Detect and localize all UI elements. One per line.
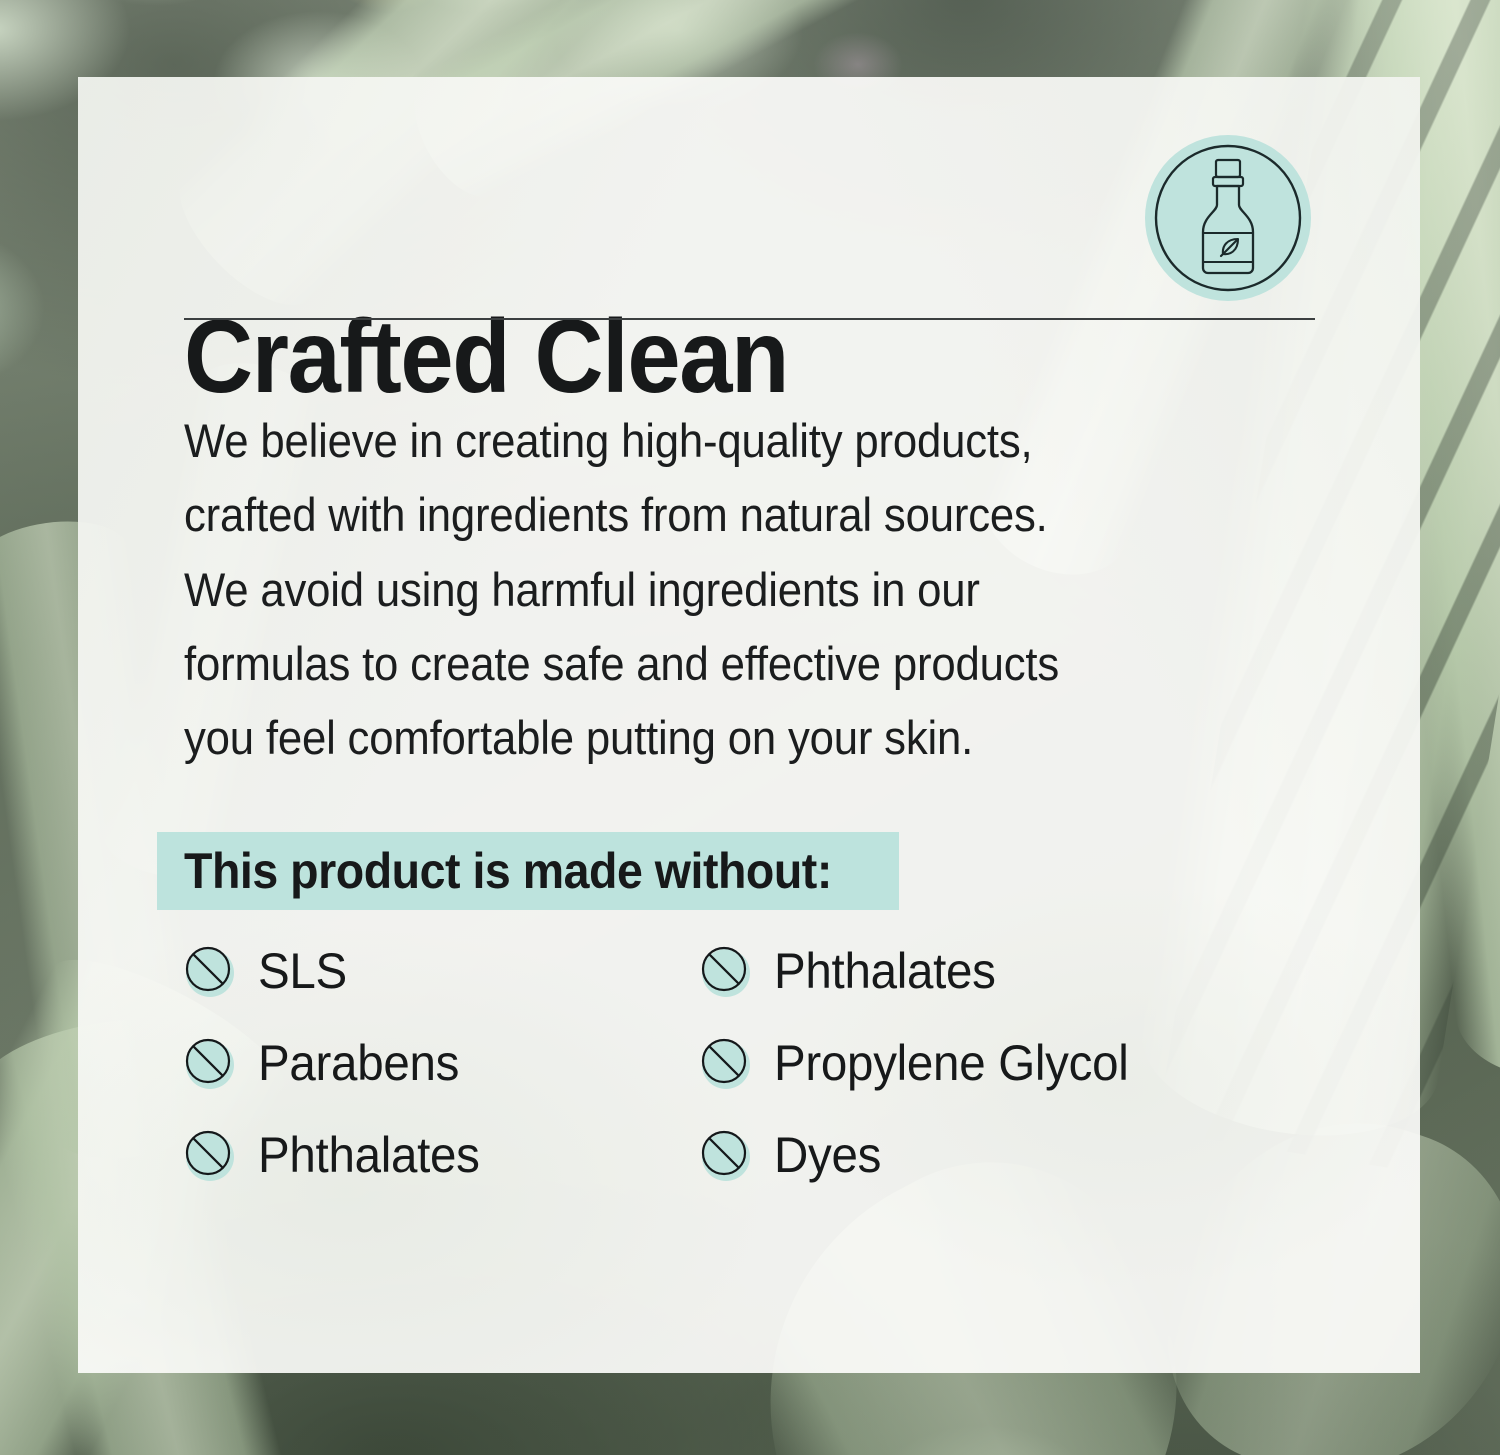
content-card: Crafted Clean — [78, 77, 1420, 1373]
exclusion-label: SLS — [258, 946, 347, 996]
exclusion-label: Dyes — [774, 1130, 881, 1180]
prohibition-icon — [184, 945, 236, 997]
prohibition-icon — [700, 1129, 752, 1181]
list-item: Propylene Glycol — [700, 1031, 1344, 1095]
body-line: We believe in creating high-quality prod… — [184, 404, 1226, 478]
body-line: formulas to create safe and effective pr… — [184, 627, 1226, 701]
list-item: Phthalates — [184, 1123, 700, 1187]
bottle-badge — [1145, 135, 1311, 301]
bottle-with-leaf-icon — [1145, 135, 1311, 301]
list-item: SLS — [184, 939, 700, 1003]
list-item: Parabens — [184, 1031, 700, 1095]
exclusion-list: SLS Phthalates — [184, 939, 1344, 1187]
prohibition-icon — [184, 1129, 236, 1181]
body-line: you feel comfortable putting on your ski… — [184, 701, 1226, 775]
list-item: Phthalates — [700, 939, 1344, 1003]
body-line: We avoid using harmful ingredients in ou… — [184, 553, 1226, 627]
exclusion-label: Phthalates — [258, 1130, 480, 1180]
body-paragraph: We believe in creating high-quality prod… — [184, 404, 1226, 775]
exclusion-label: Phthalates — [774, 946, 996, 996]
exclusion-label: Parabens — [258, 1038, 459, 1088]
page-title: Crafted Clean — [184, 305, 788, 409]
exclusion-label: Propylene Glycol — [774, 1038, 1128, 1088]
prohibition-icon — [700, 1037, 752, 1089]
prohibition-icon — [184, 1037, 236, 1089]
title-divider — [184, 318, 1315, 320]
body-line: crafted with ingredients from natural so… — [184, 478, 1226, 552]
made-without-label: This product is made without: — [184, 842, 832, 900]
infographic-canvas: Crafted Clean — [0, 0, 1500, 1455]
prohibition-icon — [700, 945, 752, 997]
made-without-heading: This product is made without: — [157, 832, 899, 910]
list-item: Dyes — [700, 1123, 1344, 1187]
